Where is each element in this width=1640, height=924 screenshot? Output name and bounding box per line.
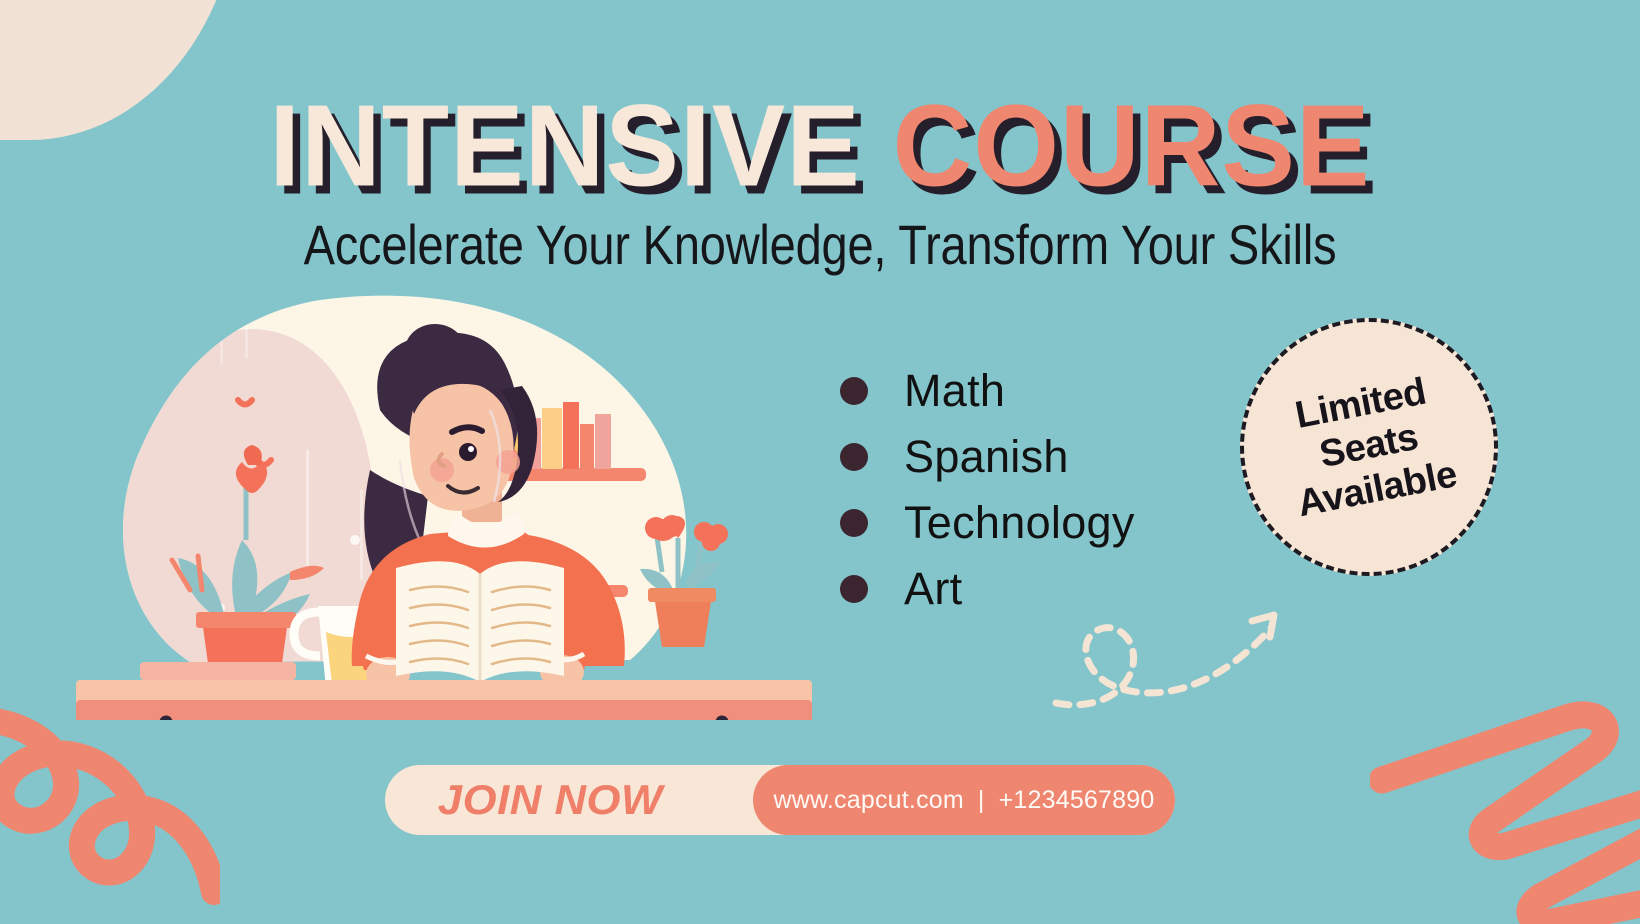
page-subtitle: Accelerate Your Knowledge, Transform You… (0, 212, 1640, 277)
contact-separator: | (964, 786, 999, 815)
open-book (396, 561, 564, 682)
course-label: Math (904, 365, 1005, 417)
website-link[interactable]: www.capcut.com (774, 786, 964, 815)
course-list: Math Spanish Technology Art (840, 358, 1135, 622)
headline-part-course: COURSE (893, 88, 1371, 204)
desk (76, 680, 812, 720)
list-item[interactable]: Spanish (840, 424, 1135, 490)
bullet-icon (840, 575, 868, 603)
status-badge: Limited Seats Available (1218, 296, 1520, 598)
list-item[interactable]: Technology (840, 490, 1135, 556)
list-item[interactable]: Math (840, 358, 1135, 424)
join-now-button[interactable]: JOIN NOW (380, 776, 663, 824)
cta-bar: JOIN NOW www.capcut.com | +1234567890 (385, 765, 1175, 835)
coral-zigzag-squiggle-decoration (1370, 680, 1640, 924)
page-title: INTENSIVE COURSE (0, 88, 1640, 204)
list-item[interactable]: Art (840, 556, 1135, 622)
bullet-icon (840, 377, 868, 405)
contact-info[interactable]: www.capcut.com | +1234567890 (753, 765, 1175, 835)
course-label: Art (904, 563, 962, 615)
bullet-icon (840, 509, 868, 537)
course-label: Spanish (904, 431, 1069, 483)
course-label: Technology (904, 497, 1135, 549)
bullet-icon (840, 443, 868, 471)
woman-reading-at-desk-illustration (70, 290, 830, 720)
headline-part-intensive: INTENSIVE (269, 88, 860, 204)
phone-number[interactable]: +1234567890 (999, 786, 1155, 815)
promo-poster: INTENSIVE COURSE Accelerate Your Knowled… (0, 0, 1640, 924)
